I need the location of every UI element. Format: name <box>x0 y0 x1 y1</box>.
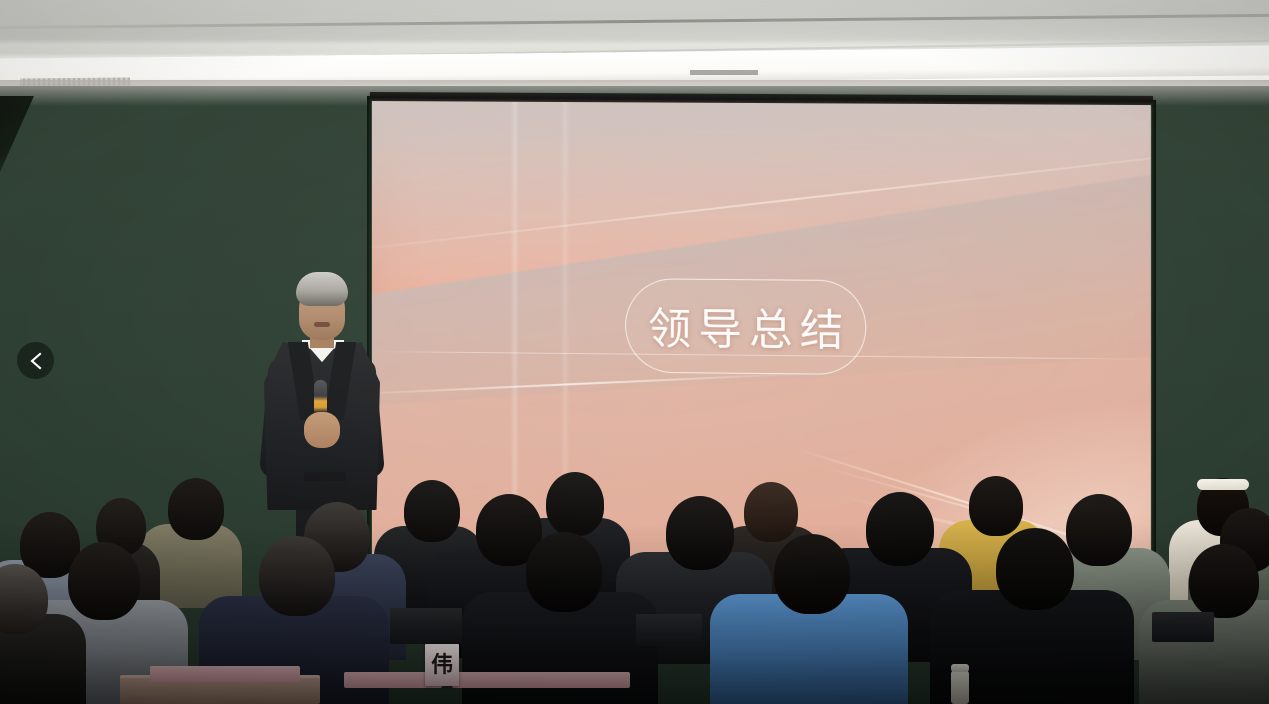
image-vignette <box>0 0 1269 704</box>
chevron-left-icon <box>29 352 43 370</box>
photo-viewer-stage: 领导总结 <box>0 0 1269 704</box>
previous-image-button[interactable] <box>17 342 54 379</box>
